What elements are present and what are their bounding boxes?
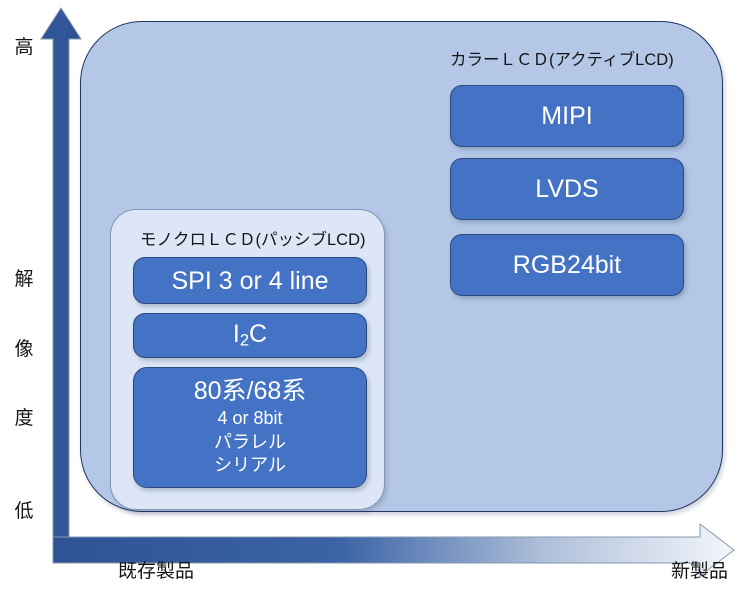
interface-chip-i2c[interactable]: I2C xyxy=(133,313,367,358)
axis-label-new-products: 新製品 xyxy=(618,560,728,583)
interface-chip-mipi-label: MIPI xyxy=(541,102,592,130)
axis-label-resolution: 解 像 度 xyxy=(6,222,42,477)
axis-label-resolution-char-3: 度 xyxy=(6,407,42,430)
interface-chip-lvds-label: LVDS xyxy=(535,175,598,203)
interface-chip-8068-bus[interactable]: 80系/68系 4 or 8bit パラレル シリアル xyxy=(133,367,367,488)
axis-label-low: 低 xyxy=(6,500,42,523)
diagram-canvas: 高 解 像 度 低 既存製品 新製品 カラーＬＣＤ(アクティブLCD) MIPI… xyxy=(0,0,743,600)
axis-label-high: 高 xyxy=(6,36,42,59)
axis-label-resolution-char-1: 解 xyxy=(6,268,42,291)
interface-chip-mipi[interactable]: MIPI xyxy=(450,85,684,147)
interface-chip-spi-label: SPI 3 or 4 line xyxy=(171,267,328,295)
resolution-axis-arrow xyxy=(41,8,81,553)
interface-chip-i2c-label: I2C xyxy=(233,320,267,350)
interface-chip-rgb24bit-label: RGB24bit xyxy=(513,251,621,279)
interface-chip-rgb24bit[interactable]: RGB24bit xyxy=(450,234,684,296)
interface-chip-i2c-label-subscript: 2 xyxy=(240,332,249,350)
interface-chip-lvds[interactable]: LVDS xyxy=(450,158,684,220)
interface-chip-8068-bus-subline-3: シリアル xyxy=(214,454,286,477)
interface-chip-i2c-label-suffix: C xyxy=(249,320,267,348)
mono-lcd-group-title: モノクロＬＣＤ(パッシブLCD) xyxy=(140,226,366,250)
color-lcd-group-title: カラーＬＣＤ(アクティブLCD) xyxy=(450,46,674,70)
axis-label-resolution-char-2: 像 xyxy=(6,338,42,361)
interface-chip-spi[interactable]: SPI 3 or 4 line xyxy=(133,257,367,304)
interface-chip-8068-bus-subline-1: 4 or 8bit xyxy=(217,407,282,430)
interface-chip-8068-bus-subline-2: パラレル xyxy=(214,431,286,454)
interface-chip-8068-bus-label: 80系/68系 xyxy=(194,377,307,405)
axis-label-existing-products: 既存製品 xyxy=(118,560,228,583)
interface-chip-i2c-label-prefix: I xyxy=(233,320,240,348)
